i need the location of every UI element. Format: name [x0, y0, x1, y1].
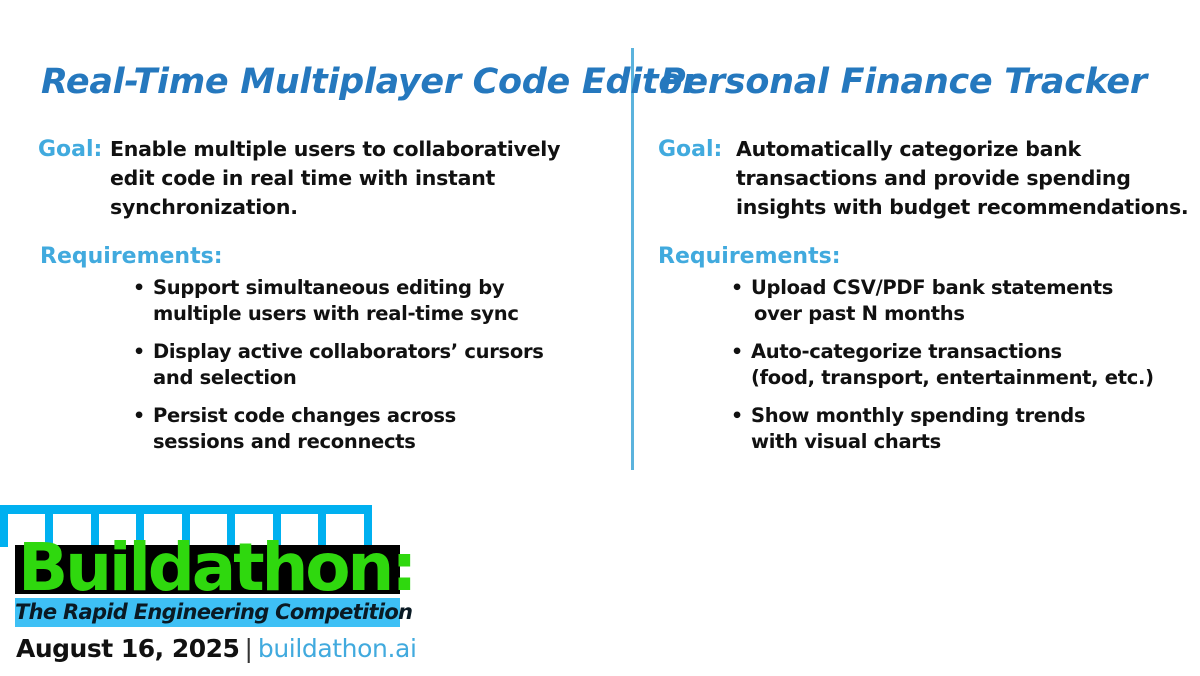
bullet-icon: •: [731, 403, 743, 429]
goal-section: Goal: Automatically categorize bank tran…: [658, 135, 1178, 222]
goal-text: Enable multiple users to collaboratively…: [110, 135, 598, 222]
requirement-line: (food, transport, entertainment, etc.): [751, 365, 1191, 391]
logo-tagline: The Rapid Engineering Competition: [15, 598, 400, 627]
comb-tooth: [0, 514, 8, 547]
requirement-line: with visual charts: [751, 429, 1191, 455]
requirement-line: Support simultaneous editing by: [153, 275, 603, 301]
project-columns: Real-Time Multiplayer Code Editor Goal: …: [0, 0, 1200, 490]
goal-line: Automatically categorize bank: [736, 135, 1188, 164]
comb-rail: [0, 505, 372, 514]
requirement-line: multiple users with real-time sync: [153, 301, 603, 327]
bullet-icon: •: [731, 275, 743, 301]
requirement-line: over past N months: [751, 301, 1191, 327]
goal-line: synchronization.: [110, 193, 598, 222]
goal-line: insights with budget recommendations.: [736, 193, 1188, 222]
list-item: • Auto-categorize transactions (food, tr…: [731, 339, 1191, 391]
bullet-icon: •: [731, 339, 743, 365]
requirements-label: Requirements:: [658, 242, 841, 271]
website-url[interactable]: buildathon.ai: [258, 634, 417, 663]
requirement-line: and selection: [153, 365, 603, 391]
goal-line: transactions and provide spending: [736, 164, 1188, 193]
requirements-label: Requirements:: [40, 242, 223, 271]
requirements-list: • Upload CSV/PDF bank statements over pa…: [731, 275, 1191, 467]
slide-canvas: Real-Time Multiplayer Code Editor Goal: …: [0, 0, 1200, 676]
list-item: • Display active collaborators’ cursors …: [133, 339, 603, 391]
list-item: • Show monthly spending trends with visu…: [731, 403, 1191, 455]
bullet-icon: •: [133, 275, 145, 301]
requirements-list: • Support simultaneous editing by multip…: [133, 275, 603, 467]
footer-separator: |: [239, 634, 257, 663]
requirement-line: Upload CSV/PDF bank statements: [751, 275, 1191, 301]
requirement-line: Auto-categorize transactions: [751, 339, 1191, 365]
requirement-line: sessions and reconnects: [153, 429, 603, 455]
goal-section: Goal: Enable multiple users to collabora…: [38, 135, 598, 222]
goal-label: Goal:: [658, 135, 736, 164]
goal-text: Automatically categorize bank transactio…: [736, 135, 1188, 222]
goal-line: Enable multiple users to collaboratively: [110, 135, 598, 164]
requirement-line: Display active collaborators’ cursors: [153, 339, 603, 365]
buildathon-logo: Buildathon: The Rapid Engineering Compet…: [0, 505, 420, 676]
goal-label: Goal:: [38, 135, 110, 164]
list-item: • Support simultaneous editing by multip…: [133, 275, 603, 327]
bullet-icon: •: [133, 339, 145, 365]
requirement-line: Show monthly spending trends: [751, 403, 1191, 429]
list-item: • Upload CSV/PDF bank statements over pa…: [731, 275, 1191, 327]
requirement-line: Persist code changes across: [153, 403, 603, 429]
column-divider: [631, 48, 634, 470]
project-title: Real-Time Multiplayer Code Editor: [41, 62, 699, 102]
bullet-icon: •: [133, 403, 145, 429]
event-date: August 16, 2025: [16, 634, 239, 663]
logo-footer: August 16, 2025|buildathon.ai: [16, 631, 416, 667]
project-title: Personal Finance Tracker: [660, 62, 1147, 102]
goal-line: edit code in real time with instant: [110, 164, 598, 193]
list-item: • Persist code changes across sessions a…: [133, 403, 603, 455]
